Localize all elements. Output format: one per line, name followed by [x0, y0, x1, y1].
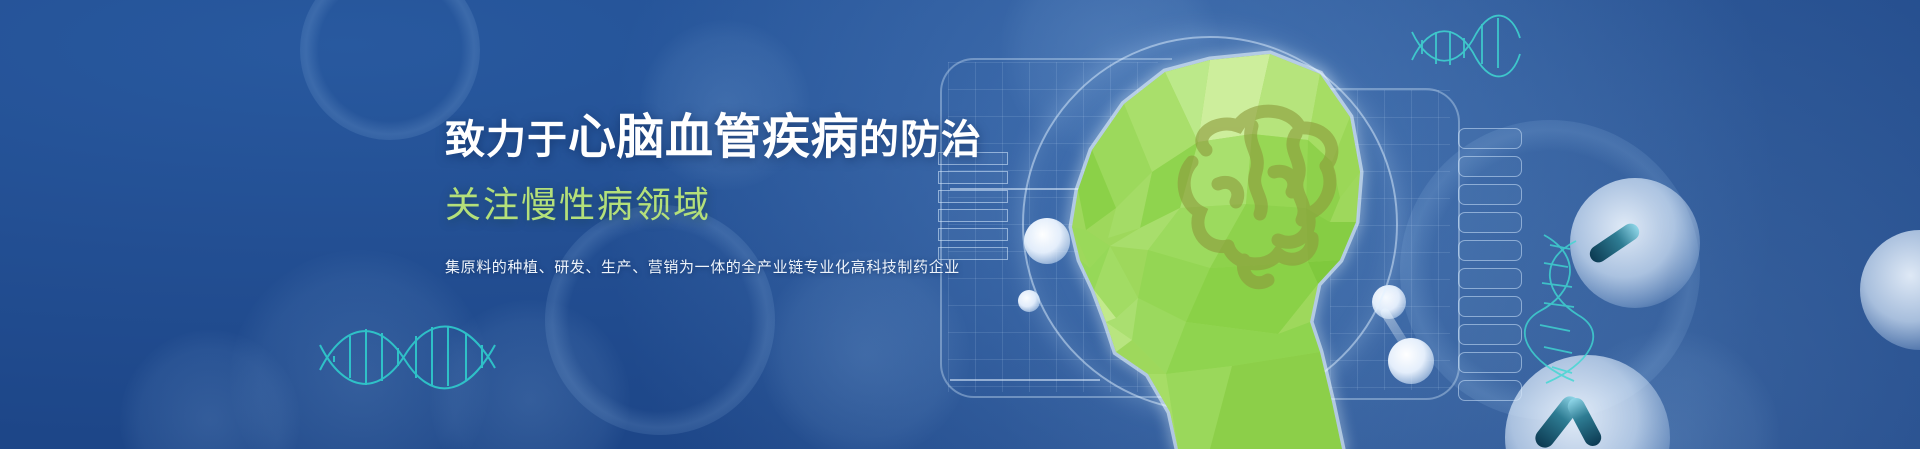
cell-circle [1860, 230, 1920, 350]
headline-prefix: 致力于 [445, 118, 568, 162]
subheadline: 关注慢性病领域 [445, 176, 1005, 228]
bokeh-circle [120, 330, 300, 449]
dna-helix-right [1538, 235, 1658, 385]
headline: 致力于心脑血管疾病的防治 [445, 112, 1005, 164]
low-poly-head-figure [1020, 22, 1450, 449]
panel-pill [1458, 128, 1522, 149]
panel-pill [1458, 324, 1522, 345]
panel-pill [1458, 296, 1522, 317]
panel-pill [1458, 212, 1522, 233]
panel-pill [1458, 184, 1522, 205]
panel-pill [1458, 156, 1522, 177]
panel-pill [1458, 352, 1522, 373]
bokeh-circle [760, 250, 970, 449]
panel-pill [1458, 240, 1522, 261]
hero-copy: 致力于心脑血管疾病的防治 关注慢性病领域 集原料的种植、研发、生产、营销为一体的… [445, 112, 1005, 277]
dna-helix-left [320, 300, 500, 400]
panel-pill [1458, 268, 1522, 289]
headline-suffix: 的防治 [859, 118, 982, 162]
hero-banner: 致力于心脑血管疾病的防治 关注慢性病领域 集原料的种植、研发、生产、营销为一体的… [0, 0, 1920, 449]
panel-pill [1458, 380, 1522, 401]
tagline: 集原料的种植、研发、生产、营销为一体的全产业链专业化高科技制药企业 [445, 256, 1005, 277]
headline-emphasis: 心脑血管疾病 [568, 111, 859, 164]
